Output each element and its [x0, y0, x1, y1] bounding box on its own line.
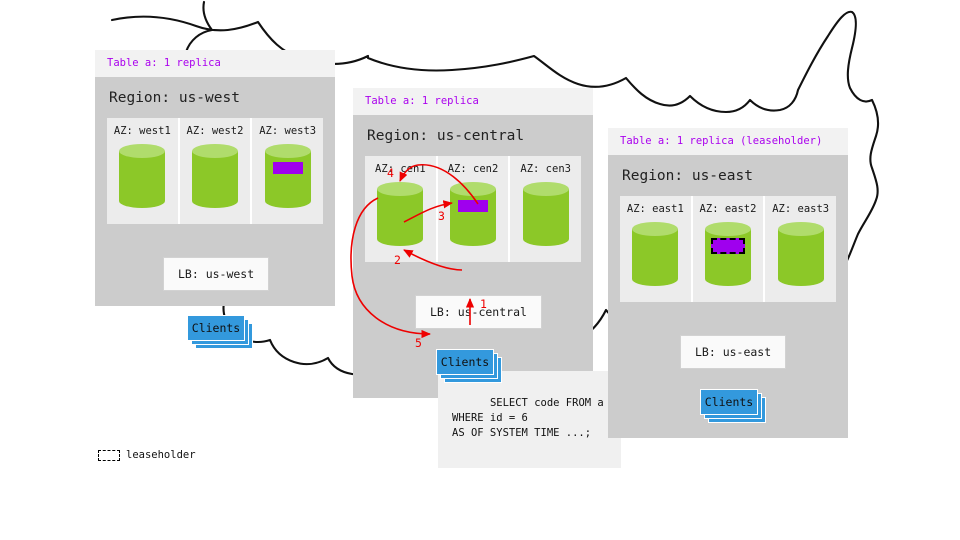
cylinder-body — [523, 189, 569, 239]
clients-sheet-front: Clients — [700, 389, 758, 415]
az-strip-us-east: AZ: east1 AZ: east2 — [620, 196, 836, 302]
cylinder-cen1[interactable] — [377, 182, 423, 246]
cylinder-body — [632, 229, 678, 279]
cylinder-body — [450, 189, 496, 239]
cylinder-cen2[interactable] — [450, 182, 496, 246]
cylinder-cen3[interactable] — [523, 182, 569, 246]
az-label-west1: AZ: west1 — [114, 125, 171, 137]
step-number-3: 3 — [438, 209, 445, 223]
az-label-east3: AZ: east3 — [772, 203, 829, 215]
az-label-cen2: AZ: cen2 — [448, 163, 499, 175]
az-cell-cen3[interactable]: AZ: cen3 — [510, 156, 581, 262]
cylinder-west2[interactable] — [192, 144, 238, 208]
cylinder-west1[interactable] — [119, 144, 165, 208]
cylinder-body — [377, 189, 423, 239]
lb-us-central[interactable]: LB: us-central — [415, 295, 542, 329]
az-label-west3: AZ: west3 — [259, 125, 316, 137]
az-cell-cen2[interactable]: AZ: cen2 — [438, 156, 509, 262]
region-header-label: Table a: 1 replica (leaseholder) — [620, 135, 836, 147]
cylinder-top — [265, 144, 311, 158]
region-panel-us-east: Table a: 1 replica (leaseholder) Region:… — [608, 128, 848, 438]
clients-sheet-front: Clients — [436, 349, 494, 375]
clients-us-east[interactable]: Clients — [700, 389, 758, 415]
replica-west3[interactable] — [273, 162, 303, 174]
lb-label: LB: us-central — [430, 305, 527, 319]
lb-us-west[interactable]: LB: us-west — [163, 257, 269, 291]
cylinder-body — [265, 151, 311, 201]
cylinder-east3[interactable] — [778, 222, 824, 286]
cylinder-body — [778, 229, 824, 279]
az-cell-east2[interactable]: AZ: east2 — [693, 196, 764, 302]
lb-label: LB: us-west — [178, 267, 254, 281]
cylinder-body — [119, 151, 165, 201]
region-header-label: Table a: 1 replica — [107, 57, 323, 69]
region-body-us-east: Region: us-east AZ: east1 AZ: east2 — [608, 155, 848, 438]
az-label-cen1: AZ: cen1 — [375, 163, 426, 175]
cylinder-top — [192, 144, 238, 158]
cylinder-body — [192, 151, 238, 201]
sql-query-box: SELECT code FROM a WHERE id = 6 AS OF SY… — [438, 371, 621, 468]
az-cell-cen1[interactable]: AZ: cen1 — [365, 156, 436, 262]
az-cell-west1[interactable]: AZ: west1 — [107, 118, 178, 224]
legend-label: leaseholder — [126, 449, 196, 461]
region-body-us-west: Region: us-west AZ: west1 AZ: west2 — [95, 77, 335, 306]
cylinder-east1[interactable] — [632, 222, 678, 286]
step-number-5: 5 — [415, 336, 422, 350]
cylinder-top — [705, 222, 751, 236]
cylinder-west3[interactable] — [265, 144, 311, 208]
az-label-east1: AZ: east1 — [627, 203, 684, 215]
region-body-us-central: Region: us-central AZ: cen1 AZ: cen2 — [353, 115, 593, 398]
diagram-canvas: Table a: 1 replica Region: us-west AZ: w… — [0, 0, 960, 540]
cylinder-top — [450, 182, 496, 196]
clients-label: Clients — [441, 355, 489, 369]
region-title-us-east: Region: us-east — [608, 155, 848, 196]
region-header-us-west: Table a: 1 replica — [95, 50, 335, 77]
dashed-rect-swatch — [98, 450, 120, 461]
replica-east2-leaseholder[interactable] — [711, 238, 745, 254]
cylinder-top — [377, 182, 423, 196]
cylinder-body — [705, 229, 751, 279]
region-panel-us-west: Table a: 1 replica Region: us-west AZ: w… — [95, 50, 335, 306]
az-cell-west3[interactable]: AZ: west3 — [252, 118, 323, 224]
step-number-4: 4 — [387, 166, 394, 180]
step-number-2: 2 — [394, 253, 401, 267]
region-title-us-west: Region: us-west — [95, 77, 335, 118]
legend-leaseholder: leaseholder — [98, 449, 196, 461]
region-title-us-central: Region: us-central — [353, 115, 593, 156]
az-strip-us-central: AZ: cen1 AZ: cen2 — [365, 156, 581, 262]
region-header-us-east: Table a: 1 replica (leaseholder) — [608, 128, 848, 155]
az-label-east2: AZ: east2 — [700, 203, 757, 215]
cylinder-top — [119, 144, 165, 158]
az-strip-us-west: AZ: west1 AZ: west2 — [107, 118, 323, 224]
step-number-1: 1 — [480, 297, 487, 311]
az-label-cen3: AZ: cen3 — [520, 163, 571, 175]
az-cell-west2[interactable]: AZ: west2 — [180, 118, 251, 224]
cylinder-top — [778, 222, 824, 236]
replica-cen2[interactable] — [458, 200, 488, 212]
cylinder-top — [523, 182, 569, 196]
az-cell-east3[interactable]: AZ: east3 — [765, 196, 836, 302]
clients-label: Clients — [192, 321, 240, 335]
clients-label: Clients — [705, 395, 753, 409]
lb-label: LB: us-east — [695, 345, 771, 359]
az-cell-east1[interactable]: AZ: east1 — [620, 196, 691, 302]
sql-query-text: SELECT code FROM a WHERE id = 6 AS OF SY… — [452, 397, 604, 439]
region-header-label: Table a: 1 replica — [365, 95, 581, 107]
cylinder-east2[interactable] — [705, 222, 751, 286]
az-label-west2: AZ: west2 — [187, 125, 244, 137]
cylinder-top — [632, 222, 678, 236]
region-panel-us-central: Table a: 1 replica Region: us-central AZ… — [353, 88, 593, 398]
lb-us-east[interactable]: LB: us-east — [680, 335, 786, 369]
clients-sheet-front: Clients — [187, 315, 245, 341]
clients-us-west[interactable]: Clients — [187, 315, 245, 341]
clients-us-central[interactable]: Clients — [436, 349, 494, 375]
region-header-us-central: Table a: 1 replica — [353, 88, 593, 115]
